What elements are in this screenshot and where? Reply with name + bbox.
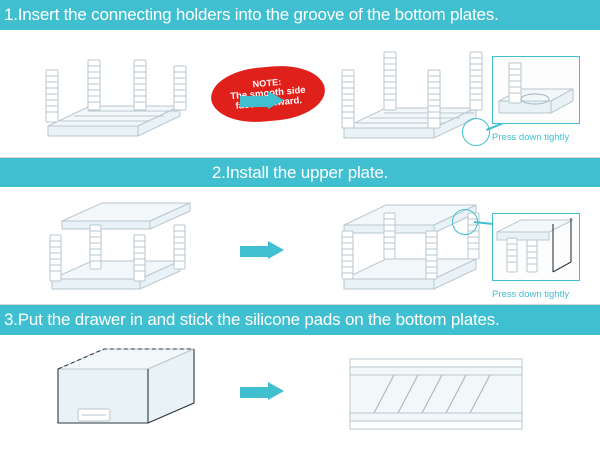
step-2-before-diagram: [34, 201, 214, 301]
step-3-illustration-panel: [0, 335, 600, 450]
step-1-callout-detail-box: [492, 56, 580, 124]
step-3-after-diagram: [336, 349, 536, 439]
step-3-arrow-right-icon: [240, 383, 284, 401]
step-1-illustration-panel: NOTE: The smooth side faces outward.: [0, 30, 600, 158]
step-2-callout-label: Press down tightly: [492, 289, 569, 300]
step-3-heading-text: 3.Put the drawer in and stick the silico…: [4, 310, 500, 330]
step-2-arrow-right-icon: [240, 242, 284, 260]
instruction-sheet: 1.Insert the connecting holders into the…: [0, 0, 600, 450]
step-1-arrow-right-icon: [240, 92, 284, 110]
step-1-callout-label: Press down tightly: [492, 132, 569, 143]
step-3-before-diagram: [44, 347, 224, 447]
step-1-callout-ring: [462, 118, 490, 146]
step-3-heading-band: 3.Put the drawer in and stick the silico…: [0, 305, 600, 335]
step-1-before-diagram: [30, 38, 210, 153]
step-2-heading-text: 2.Install the upper plate.: [212, 163, 388, 183]
step-1-heading-text: 1.Insert the connecting holders into the…: [4, 5, 499, 25]
step-2-callout-detail-box: [492, 213, 580, 281]
step-2-heading-band: 2.Install the upper plate.: [0, 158, 600, 187]
step-1-heading-band: 1.Insert the connecting holders into the…: [0, 0, 600, 30]
step-2-illustration-panel: Press down tightly: [0, 187, 600, 305]
